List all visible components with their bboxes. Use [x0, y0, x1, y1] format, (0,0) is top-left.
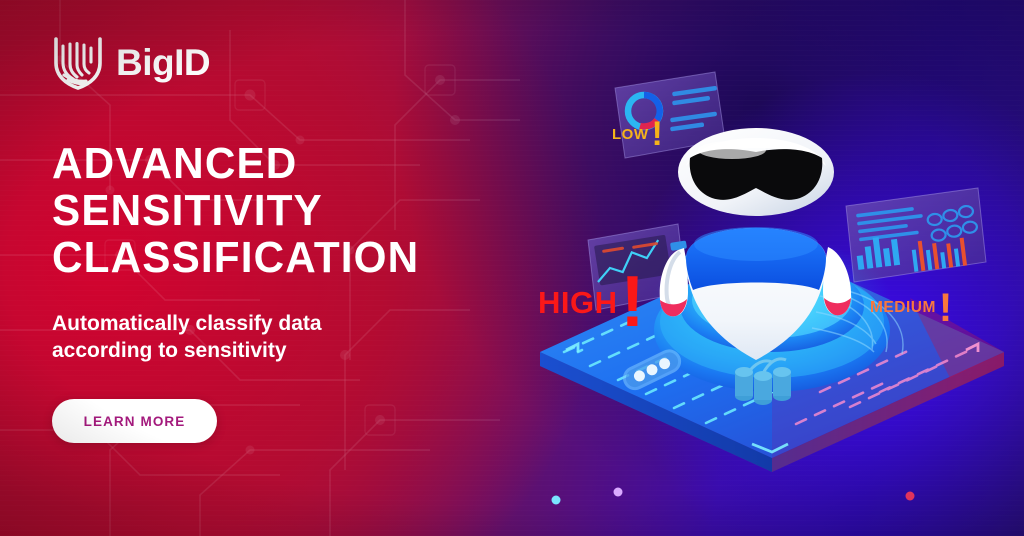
headline-line-3: CLASSIFICATION [52, 234, 474, 281]
page-title: ADVANCED SENSITIVITY CLASSIFICATION [52, 140, 492, 281]
brand-logo[interactable]: BigID [52, 33, 210, 91]
risk-medium-text: MEDIUM [870, 299, 936, 317]
headline-line-1: ADVANCED [52, 140, 474, 187]
risk-low-text: LOW [612, 126, 649, 143]
risk-low-exclamation-icon: ! [652, 120, 663, 149]
subheadline-line-2: according to sensitivity [52, 338, 412, 365]
learn-more-label: LEARN MORE [84, 414, 186, 429]
subheadline: Automatically classify data according to… [52, 311, 412, 365]
risk-label-medium: MEDIUM ! [870, 291, 952, 325]
banner-content: BigID ADVANCED SENSITIVITY CLASSIFICATIO… [52, 0, 522, 536]
headline-line-2: SENSITIVITY [52, 187, 474, 234]
subheadline-line-1: Automatically classify data [52, 311, 412, 338]
illustration: LOW ! HIGH ! MEDIUM ! [520, 0, 1024, 536]
risk-medium-exclamation-icon: ! [939, 291, 952, 325]
marketing-banner: BigID ADVANCED SENSITIVITY CLASSIFICATIO… [0, 0, 1024, 536]
risk-label-high: HIGH ! [538, 272, 644, 334]
fingerprint-shield-icon [52, 33, 104, 91]
learn-more-button[interactable]: LEARN MORE [52, 399, 217, 443]
risk-high-exclamation-icon: ! [621, 272, 645, 334]
brand-name: BigID [116, 44, 210, 81]
risk-high-text: HIGH [538, 285, 618, 321]
risk-label-low: LOW ! [612, 120, 663, 149]
